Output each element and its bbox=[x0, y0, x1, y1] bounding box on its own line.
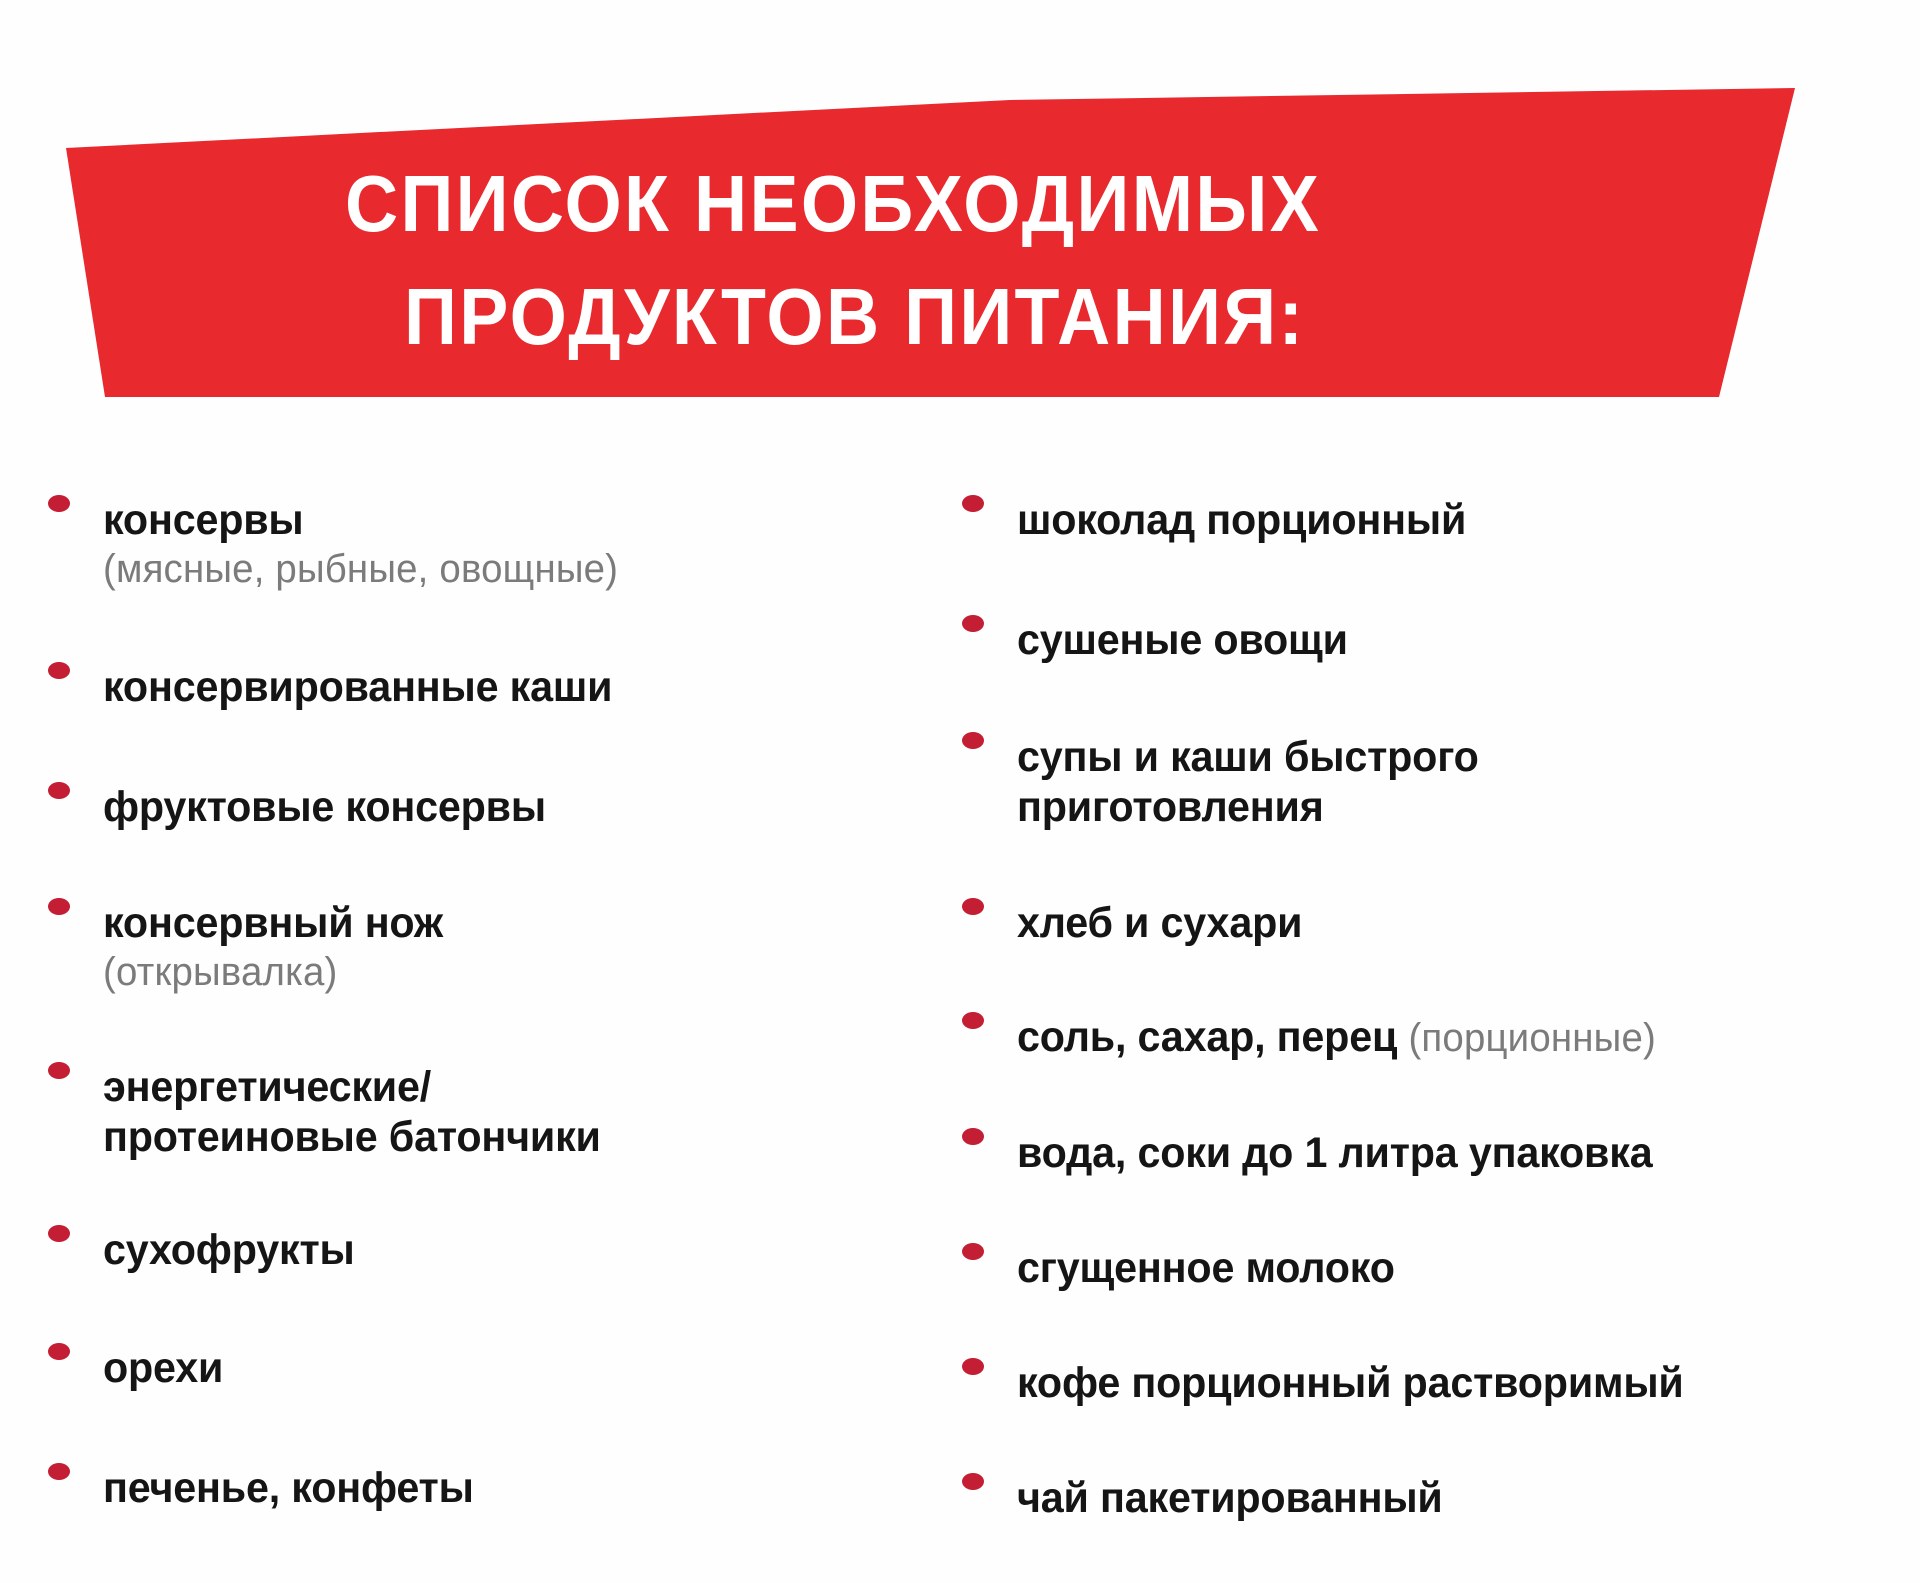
list-item: чай пакетированный bbox=[962, 1473, 1460, 1523]
list-item-label: консервный нож bbox=[103, 898, 443, 948]
bullet-icon bbox=[962, 1128, 984, 1145]
bullet-icon bbox=[962, 898, 984, 915]
list-item: супы и каши быстрогоприготовления bbox=[962, 732, 1498, 832]
list-item-label: чай пакетированный bbox=[1017, 1473, 1443, 1523]
list-item: фруктовые консервы bbox=[48, 782, 564, 832]
list-item-note: (мясные, рыбные, овощные) bbox=[103, 545, 618, 593]
list-item-body: сгущенное молоко bbox=[1017, 1243, 1410, 1293]
list-item: печенье, конфеты bbox=[48, 1463, 489, 1513]
bullet-icon bbox=[48, 1225, 70, 1242]
bullet-icon bbox=[962, 1473, 984, 1490]
list-item: орехи bbox=[48, 1343, 228, 1393]
list-item-label: печенье, конфеты bbox=[103, 1463, 474, 1513]
bullet-icon bbox=[962, 1012, 984, 1029]
list-item: консервный нож(открывалка) bbox=[48, 898, 457, 996]
list-item: шоколад порционный bbox=[962, 495, 1485, 545]
list-item-label: сушеные овощи bbox=[1017, 615, 1348, 665]
list-item-label: супы и каши быстрогоприготовления bbox=[1017, 732, 1479, 832]
list-item-body: сушеные овощи bbox=[1017, 615, 1362, 665]
list-item: сухофрукты bbox=[48, 1225, 365, 1275]
list-item-label: орехи bbox=[103, 1343, 223, 1393]
list-item: консервированные каши bbox=[48, 662, 634, 712]
bullet-icon bbox=[48, 1343, 70, 1360]
list-item-label: фруктовые консервы bbox=[103, 782, 546, 832]
list-item-label: консервы bbox=[103, 495, 618, 545]
list-item: соль, сахар, перец (порционные) bbox=[962, 1012, 1683, 1063]
list-item-label: консервированные каши bbox=[103, 662, 612, 712]
list-item-body: соль, сахар, перец (порционные) bbox=[1017, 1012, 1683, 1063]
list-item-body: чай пакетированный bbox=[1017, 1473, 1460, 1523]
list-item-body: хлеб и сухари bbox=[1017, 898, 1314, 948]
list-item-body: фруктовые консервы bbox=[103, 782, 564, 832]
bullet-icon bbox=[48, 1463, 70, 1480]
list-item-body: печенье, конфеты bbox=[103, 1463, 489, 1513]
list-item-inline-note: (порционные) bbox=[1408, 1016, 1656, 1060]
header-banner: СПИСОК НЕОБХОДИМЫХ ПРОДУКТОВ ПИТАНИЯ: bbox=[0, 0, 1920, 420]
bullet-icon bbox=[48, 1062, 70, 1079]
bullet-icon bbox=[48, 662, 70, 679]
list-item-label: энергетические/протеиновые батончики bbox=[103, 1062, 601, 1162]
poster-root: СПИСОК НЕОБХОДИМЫХ ПРОДУКТОВ ПИТАНИЯ: ко… bbox=[0, 0, 1920, 1583]
list-item-label: хлеб и сухари bbox=[1017, 898, 1302, 948]
bullet-icon bbox=[962, 615, 984, 632]
list-item-note: (открывалка) bbox=[103, 948, 443, 996]
list-item: энергетические/протеиновые батончики bbox=[48, 1062, 621, 1162]
list-item: вода, соки до 1 литра упаковка bbox=[962, 1128, 1679, 1178]
bullet-icon bbox=[962, 732, 984, 749]
list-item: консервы(мясные, рыбные, овощные) bbox=[48, 495, 640, 593]
banner-shape-icon bbox=[0, 0, 1920, 420]
list-item: кофе порционный растворимый bbox=[962, 1358, 1711, 1408]
list-item: сушеные овощи bbox=[962, 615, 1362, 665]
bullet-icon bbox=[962, 1243, 984, 1260]
list-item-label: вода, соки до 1 литра упаковка bbox=[1017, 1128, 1652, 1178]
bullet-icon bbox=[48, 782, 70, 799]
list-item: сгущенное молоко bbox=[962, 1243, 1410, 1293]
list-item-label: шоколад порционный bbox=[1017, 495, 1466, 545]
list-item-label: соль, сахар, перец (порционные) bbox=[1017, 1012, 1656, 1063]
list-item-body: шоколад порционный bbox=[1017, 495, 1485, 545]
list-item-body: консервированные каши bbox=[103, 662, 634, 712]
list-item-label: сгущенное молоко bbox=[1017, 1243, 1395, 1293]
list-item-label: сухофрукты bbox=[103, 1225, 355, 1275]
bullet-icon bbox=[48, 495, 70, 512]
list-item-label: кофе порционный растворимый bbox=[1017, 1358, 1684, 1408]
list-item-body: кофе порционный растворимый bbox=[1017, 1358, 1711, 1408]
list-item-body: вода, соки до 1 литра упаковка bbox=[1017, 1128, 1679, 1178]
list-item-body: сухофрукты bbox=[103, 1225, 365, 1275]
bullet-icon bbox=[48, 898, 70, 915]
list-item-body: супы и каши быстрогоприготовления bbox=[1017, 732, 1498, 832]
list-item-body: консервы(мясные, рыбные, овощные) bbox=[103, 495, 640, 593]
bullet-icon bbox=[962, 1358, 984, 1375]
list-item-body: энергетические/протеиновые батончики bbox=[103, 1062, 621, 1162]
bullet-icon bbox=[962, 495, 984, 512]
product-list: консервы(мясные, рыбные, овощные)консерв… bbox=[0, 420, 1920, 1583]
list-item-body: консервный нож(открывалка) bbox=[103, 898, 457, 996]
list-item-body: орехи bbox=[103, 1343, 228, 1393]
list-item: хлеб и сухари bbox=[962, 898, 1314, 948]
